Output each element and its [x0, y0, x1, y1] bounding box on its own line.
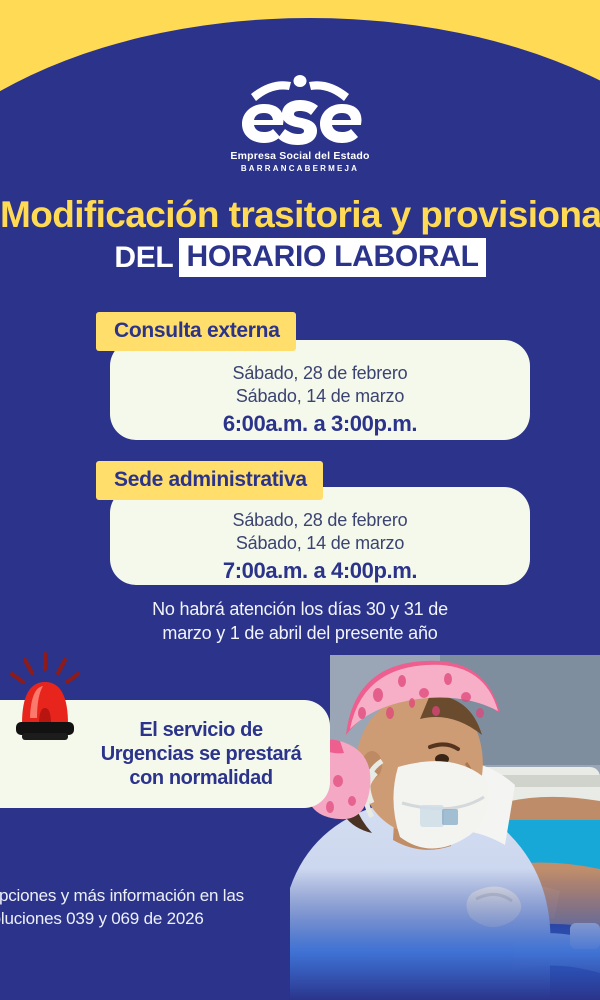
footer-line2: Resoluciones 039 y 069 de 2026: [0, 908, 292, 931]
card-tab-label: Sede administrativa: [96, 461, 323, 500]
card-hours: 7:00a.m. a 4:00p.m.: [110, 558, 530, 584]
urgency-line3: con normalidad: [90, 766, 312, 790]
page-title: Modificación trasitoria y provisional: [0, 196, 600, 235]
card-hours: 6:00a.m. a 3:00p.m.: [110, 411, 530, 437]
urgency-line2: Urgencias se prestará: [90, 742, 312, 766]
card-tab-label: Consulta externa: [96, 312, 296, 351]
siren-icon: [6, 652, 84, 744]
card-date-line2: Sábado, 14 de marzo: [110, 532, 530, 555]
organization-logo: Empresa Social del Estado BARRANCABERMEJ…: [0, 70, 600, 173]
logo-subtitle-line2: BARRANCABERMEJA: [241, 164, 359, 173]
closure-notice: No habrá atención los días 30 y 31 de ma…: [0, 597, 600, 646]
subtitle-prefix: DEL: [114, 241, 173, 275]
card-body: Sábado, 28 de febrero Sábado, 14 de marz…: [110, 340, 530, 440]
subtitle-highlight: HORARIO LABORAL: [179, 238, 485, 277]
nurse-photo-illustration: [290, 655, 600, 1000]
siren-icon-glyph: [6, 652, 84, 744]
card-date-line1: Sábado, 28 de febrero: [110, 362, 530, 385]
page-subtitle: DEL HORARIO LABORAL: [0, 238, 600, 277]
card-date-line2: Sábado, 14 de marzo: [110, 385, 530, 408]
ese-logo-icon: [225, 70, 375, 148]
footer-line1: Excepciones y más información en las: [0, 885, 292, 908]
nurse-photo: [290, 655, 600, 1000]
card-body: Sábado, 28 de febrero Sábado, 14 de marz…: [110, 487, 530, 585]
notice-line2: marzo y 1 de abril del presente año: [0, 621, 600, 645]
urgency-line1: El servicio de: [90, 718, 312, 742]
poster-canvas: Empresa Social del Estado BARRANCABERMEJ…: [0, 0, 600, 1000]
logo-subtitle-line1: Empresa Social del Estado: [230, 150, 369, 162]
notice-line1: No habrá atención los días 30 y 31 de: [0, 597, 600, 621]
urgency-text: El servicio de Urgencias se prestará con…: [90, 718, 330, 790]
card-date-line1: Sábado, 28 de febrero: [110, 509, 530, 532]
footer-note: Excepciones y más información en las Res…: [0, 885, 292, 931]
